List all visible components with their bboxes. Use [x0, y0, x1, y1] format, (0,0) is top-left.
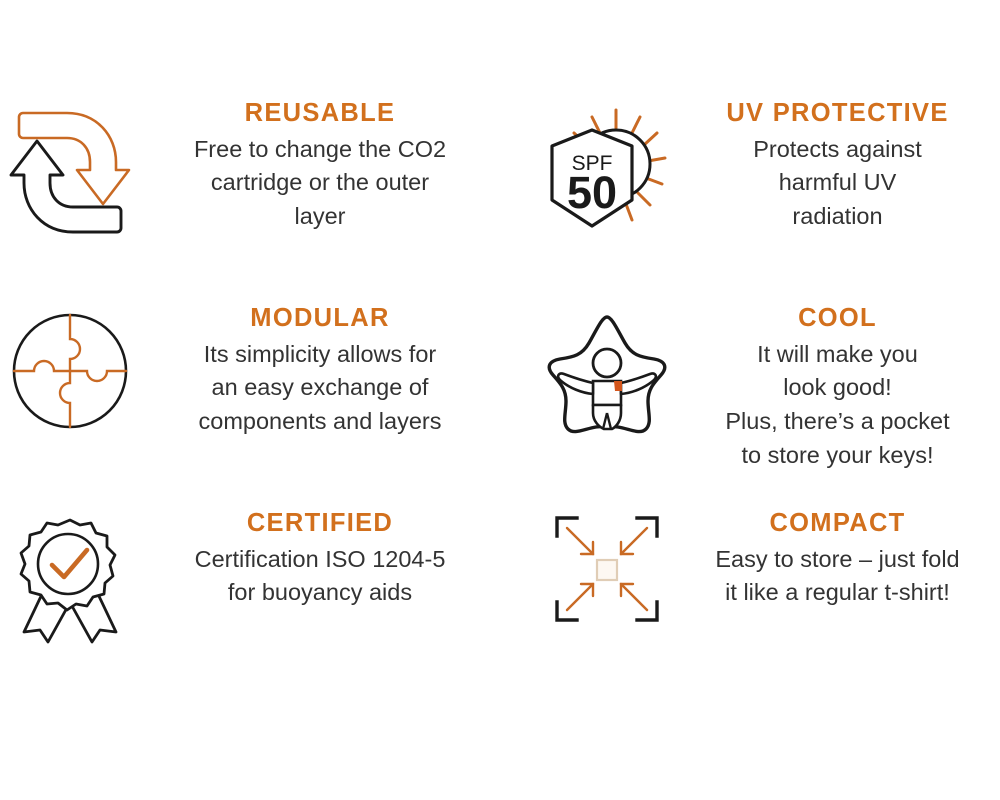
feature-text-cool: COOL It will make you look good! Plus, t… [675, 305, 1000, 473]
feature-card-modular: MODULAR Its simplicity allows for an eas… [0, 305, 500, 510]
feature-card-certified: CERTIFIED Certification ISO 1204-5 for b… [0, 510, 500, 715]
feature-grid: REUSABLE Free to change the CO2 cartridg… [0, 0, 1000, 800]
feature-card-cool: COOL It will make you look good! Plus, t… [500, 305, 1000, 510]
feature-text-compact: COMPACT Easy to store – just fold it lik… [675, 510, 1000, 610]
feature-description: It will make you look good! Plus, there’… [681, 338, 994, 473]
feature-title: MODULAR [146, 305, 494, 333]
center-square [597, 560, 617, 580]
compress-arrows-icon [500, 510, 675, 660]
recycle-arrows-icon [0, 100, 140, 250]
feature-title: CERTIFIED [146, 510, 494, 538]
feature-text-uv-protective: UV PROTECTIVE Protects against harmful U… [675, 100, 1000, 234]
feature-title: COOL [681, 305, 994, 333]
feature-card-compact: COMPACT Easy to store – just fold it lik… [500, 510, 1000, 715]
bottom-spacer [0, 715, 1000, 800]
puzzle-circle-icon [0, 305, 140, 455]
feature-title: REUSABLE [146, 100, 494, 128]
feature-description: Its simplicity allows for an easy exchan… [146, 338, 494, 439]
feature-text-modular: MODULAR Its simplicity allows for an eas… [140, 305, 500, 439]
spf-value: 50 [567, 167, 617, 218]
top-spacer [0, 0, 1000, 100]
rosette-inner-circle [38, 534, 98, 594]
feature-description: Free to change the CO2 cartridge or the … [146, 133, 494, 234]
feature-card-uv-protective: SPF 50 UV PROTECTIVE Protects against ha… [500, 100, 1000, 305]
award-rosette-check-icon [0, 510, 140, 660]
spf-shield-sun-icon: SPF 50 [500, 100, 675, 250]
star-person-icon [500, 305, 675, 455]
chest-pocket-accent [614, 381, 622, 391]
feature-description: Protects against harmful UV radiation [681, 133, 994, 234]
feature-description: Easy to store – just fold it like a regu… [681, 543, 994, 611]
feature-title: UV PROTECTIVE [681, 100, 994, 128]
feature-text-certified: CERTIFIED Certification ISO 1204-5 for b… [140, 510, 500, 610]
feature-text-reusable: REUSABLE Free to change the CO2 cartridg… [140, 100, 500, 234]
person-head [593, 349, 621, 377]
feature-title: COMPACT [681, 510, 994, 538]
feature-card-reusable: REUSABLE Free to change the CO2 cartridg… [0, 100, 500, 305]
feature-description: Certification ISO 1204-5 for buoyancy ai… [146, 543, 494, 611]
